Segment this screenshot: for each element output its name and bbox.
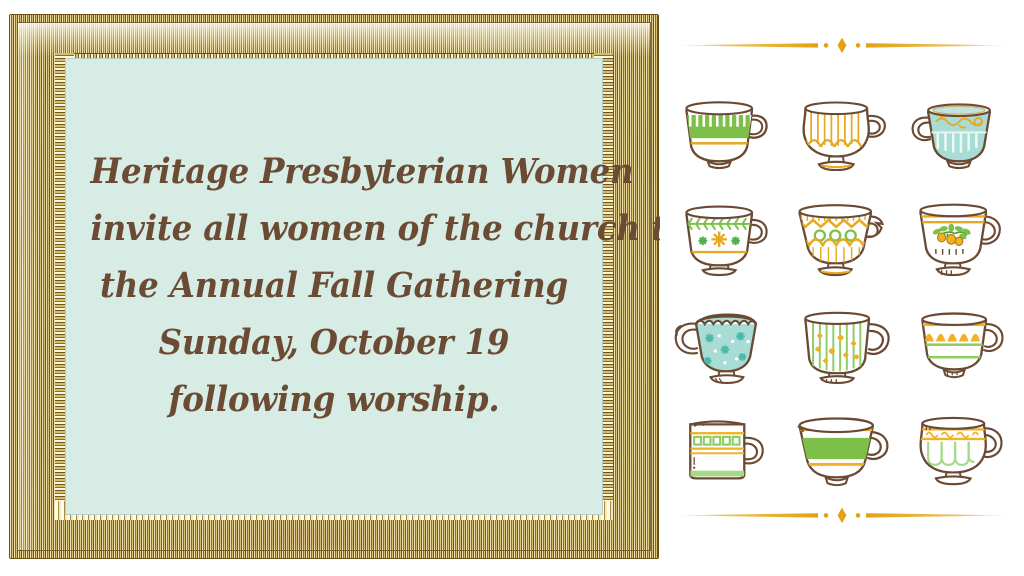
gold-diamond-divider-icon-bottom	[668, 504, 1016, 526]
invitation-line-5: following worship.	[91, 372, 578, 429]
teacup-grid	[666, 76, 1018, 500]
mug-green-squares	[666, 394, 783, 500]
invitation-line-3: the Annual Fall Gathering	[91, 258, 578, 315]
invitation-text-block: Heritage Presbyterian Women invite all w…	[81, 144, 587, 429]
invitation-line-1: Heritage Presbyterian Women	[91, 144, 578, 201]
teacup-illustration-panel	[660, 0, 1024, 576]
teacup-gold-fluted-pedestal	[783, 76, 900, 182]
invitation-mat: Heritage Presbyterian Women invite all w…	[65, 58, 603, 515]
teacup-green-vine-starburst	[666, 182, 783, 288]
teacup-green-petal-drape	[901, 394, 1018, 500]
teacup-green-stripe-tulips	[783, 288, 900, 394]
framed-invitation: Heritage Presbyterian Women invite all w…	[10, 15, 658, 558]
slide-canvas: Heritage Presbyterian Women invite all w…	[0, 0, 1024, 576]
teacup-gold-arches	[901, 288, 1018, 394]
invitation-line-4: Sunday, October 19	[91, 315, 578, 372]
teacup-berry-sprig	[901, 182, 1018, 288]
teacup-green-band-wide	[783, 394, 900, 500]
gold-diamond-divider-icon-top	[668, 34, 1016, 56]
teacup-green-band-stripes	[666, 76, 783, 182]
teacup-teal-gold-scroll	[901, 76, 1018, 182]
teacup-gold-zigzag-circles	[783, 182, 900, 288]
invitation-line-2: invite all women of the church to	[91, 201, 578, 258]
teacup-teal-snowflake	[666, 288, 783, 394]
